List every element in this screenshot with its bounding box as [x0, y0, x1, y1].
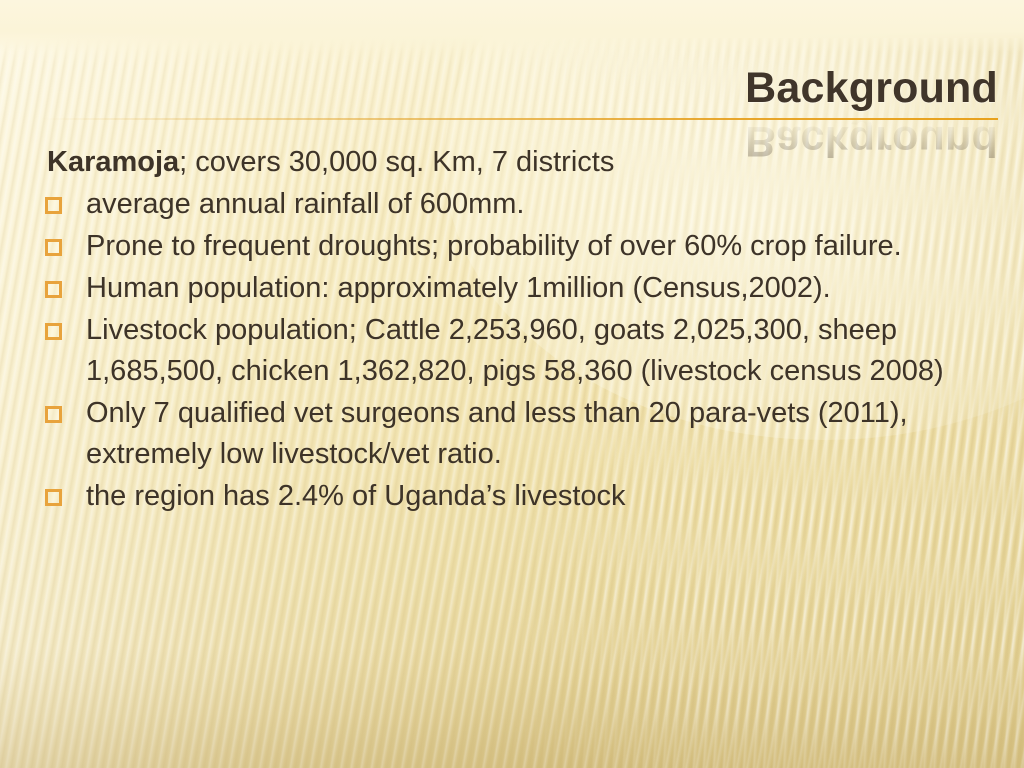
list-item-label: average annual rainfall of 600mm. [86, 184, 994, 225]
list-item-label: the region has 2.4% of Uganda’s livestoc… [86, 476, 994, 517]
list-item: Human population: approximately 1million… [40, 268, 994, 309]
list-item: Livestock population; Cattle 2,253,960, … [40, 310, 994, 392]
slide-canvas: Background Background Karamoja; covers 3… [0, 0, 1024, 768]
square-bullet-icon [45, 197, 62, 214]
bullet-list: average annual rainfall of 600mm. Prone … [40, 184, 994, 517]
slide-body: Karamoja; covers 30,000 sq. Km, 7 distri… [40, 142, 994, 518]
title-divider-rule [40, 118, 998, 120]
list-item: average annual rainfall of 600mm. [40, 184, 994, 225]
square-bullet-icon [45, 323, 62, 340]
list-item-label: Livestock population; Cattle 2,253,960, … [86, 310, 994, 392]
slide-title: Background [745, 62, 998, 114]
lead-line: Karamoja; covers 30,000 sq. Km, 7 distri… [40, 142, 994, 183]
lead-rest: ; covers 30,000 sq. Km, 7 districts [179, 146, 614, 178]
lead-emphasis: Karamoja [47, 146, 179, 178]
list-item: Prone to frequent droughts; probability … [40, 226, 994, 267]
list-item: Only 7 qualified vet surgeons and less t… [40, 393, 994, 475]
list-item-label: Only 7 qualified vet surgeons and less t… [86, 393, 994, 475]
list-item-label: Prone to frequent droughts; probability … [86, 226, 994, 267]
square-bullet-icon [45, 489, 62, 506]
list-item-label: Human population: approximately 1million… [86, 268, 994, 309]
square-bullet-icon [45, 406, 62, 423]
list-item: the region has 2.4% of Uganda’s livestoc… [40, 476, 994, 517]
square-bullet-icon [45, 281, 62, 298]
square-bullet-icon [45, 239, 62, 256]
